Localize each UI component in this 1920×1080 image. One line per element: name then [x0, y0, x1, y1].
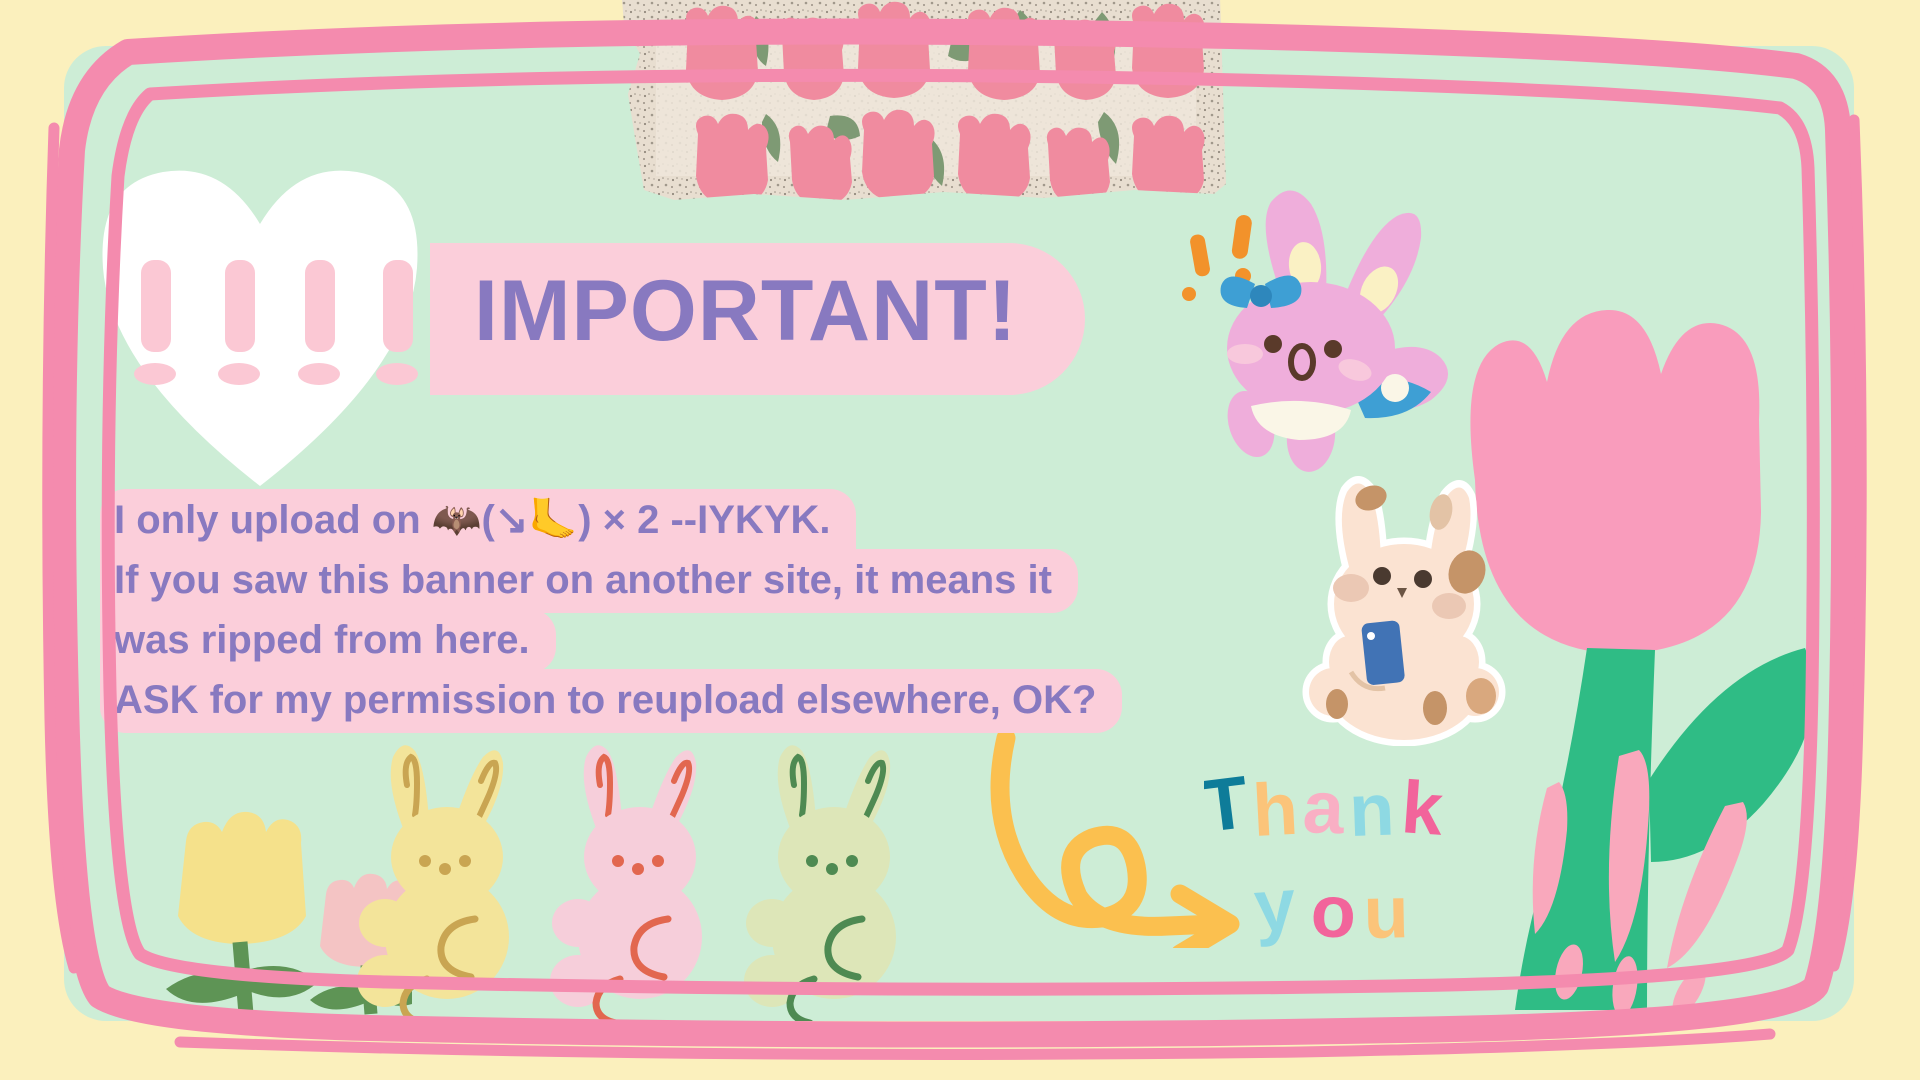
- thankyou-letter-u: u: [1363, 870, 1410, 954]
- thankyou-letter-T: T: [1204, 766, 1253, 848]
- white-heart-with-exclamations: [95, 150, 425, 495]
- pink-flying-bunny: [1159, 186, 1469, 476]
- thank-you-lettering: T h a n k y o u: [1204, 766, 1514, 966]
- tulip-washi-tape: [614, 0, 1232, 212]
- thankyou-letter-a: a: [1301, 766, 1346, 849]
- notice-line-4: ASK for my permission to reupload elsewh…: [100, 670, 1122, 730]
- thankyou-letter-o: o: [1309, 869, 1357, 954]
- page-title: IMPORTANT!: [474, 268, 1017, 354]
- yellow-bunny-cookie: [349, 741, 539, 1021]
- cream-bunny-with-phone: [1289, 476, 1519, 746]
- banner-canvas: T h a n k y o u: [0, 0, 1920, 1080]
- thankyou-letter-n: n: [1348, 767, 1396, 852]
- thankyou-letter-y: y: [1251, 862, 1298, 948]
- notice-text-block: I only upload on 🦇(↘🦶) × 2 --IYKYK. If y…: [100, 490, 1122, 730]
- thankyou-letter-k: k: [1399, 766, 1447, 851]
- yellow-tulip: [166, 812, 318, 1014]
- notice-line-2: If you saw this banner on another site, …: [100, 550, 1122, 610]
- notice-line-1: I only upload on 🦇(↘🦶) × 2 --IYKYK.: [100, 490, 1122, 550]
- pink-bunny-cookie: [542, 741, 732, 1021]
- green-bunny-cookie: [736, 741, 926, 1021]
- notice-line-3: was ripped from here.: [100, 610, 1122, 670]
- thankyou-letter-h: h: [1250, 767, 1299, 852]
